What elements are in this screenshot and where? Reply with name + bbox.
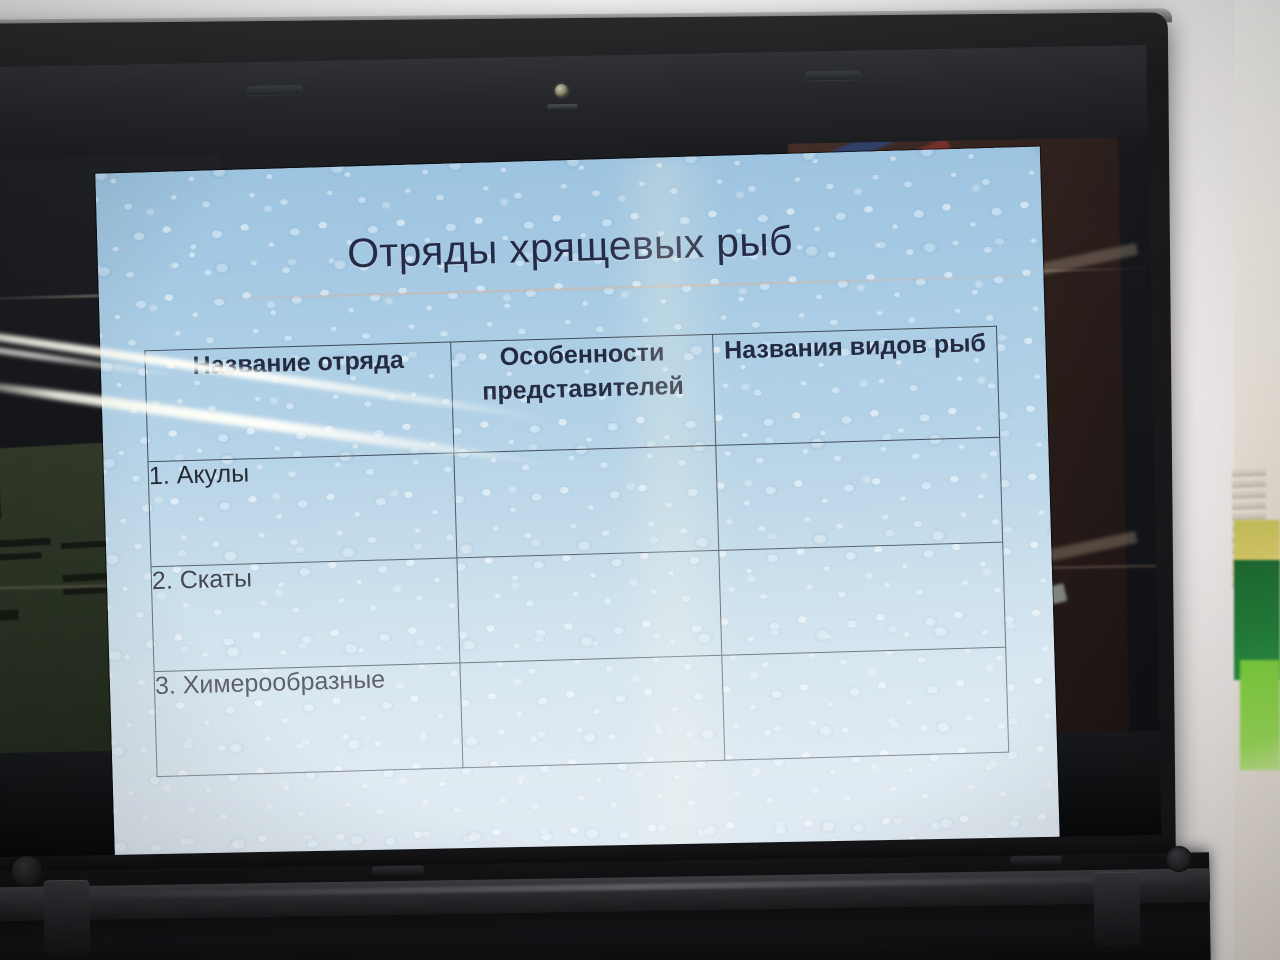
lcd-display-area: Отряды хрящевых рыб Название отряда Особ… (95, 146, 1060, 857)
screen-bumper-icon (805, 70, 861, 80)
light-green-board (1240, 660, 1280, 770)
hinge-icon (1093, 872, 1140, 947)
screen-glass-panel: ASUS Отряды хрящевых рыб Название отряд (0, 45, 1161, 857)
screen-scanlines (95, 146, 1060, 857)
port-icon (1166, 846, 1192, 872)
screen-bumper-icon (247, 85, 303, 95)
port-icon (12, 856, 42, 886)
microphone-slot-icon (547, 104, 577, 110)
webcam-icon (539, 78, 591, 105)
hinge-icon (43, 880, 90, 955)
webcam-lens-icon (555, 84, 568, 97)
hinge-vent-icon (1010, 856, 1062, 866)
hinge-vent-icon (372, 866, 424, 876)
presentation-slide: Отряды хрящевых рыб Название отряда Особ… (95, 146, 1060, 857)
laptop-lid: ASUS Отряды хрящевых рыб Название отряд (0, 12, 1176, 903)
photo-of-laptop-screen: ASUS Отряды хрящевых рыб Название отряд (0, 0, 1280, 960)
